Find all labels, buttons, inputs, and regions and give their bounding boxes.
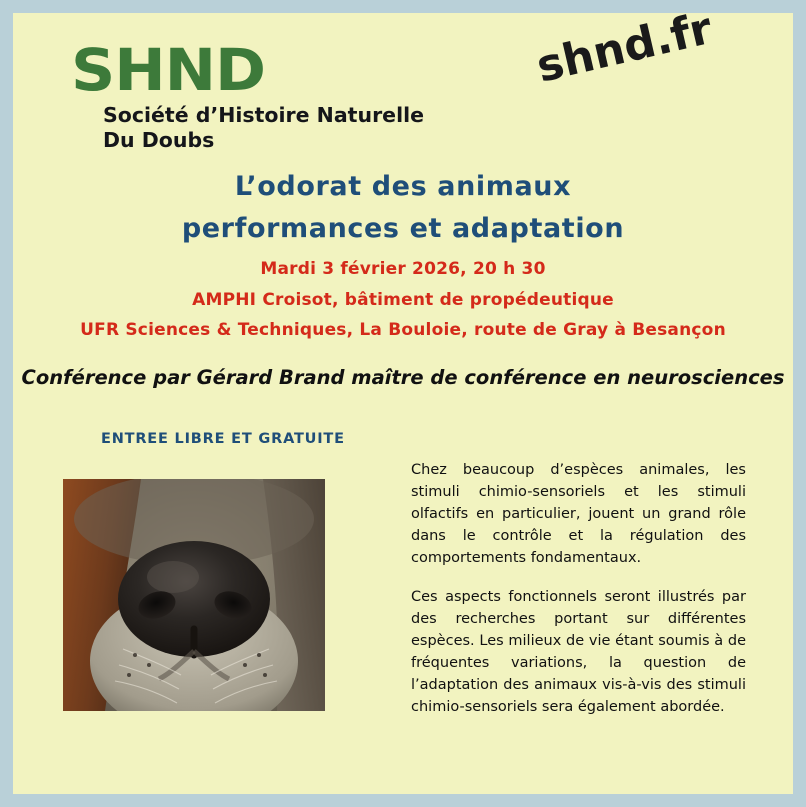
organization-logo: SHND Société d’Histoire Naturelle Du Dou… — [63, 41, 483, 153]
dog-nose-illustration — [63, 479, 325, 711]
event-address: UFR Sciences & Techniques, La Bouloie, r… — [13, 320, 793, 340]
event-date: Mardi 3 février 2026, 20 h 30 — [13, 259, 793, 279]
free-entry-notice: ENTREE LIBRE ET GRATUITE — [101, 431, 345, 447]
logo-subtitle-line1: Société d’Histoire Naturelle — [103, 103, 483, 128]
page-title-line1: L’odorat des animaux — [13, 171, 793, 202]
description-paragraph-2: Ces aspects fonctionnels seront illustré… — [411, 586, 746, 718]
event-room: AMPHI Croisot, bâtiment de propédeutique — [13, 290, 793, 310]
description-text: Chez beaucoup d’espèces animales, les st… — [411, 459, 746, 718]
speaker-line: Conférence par Gérard Brand maître de co… — [13, 366, 793, 389]
logo-acronym: SHND — [71, 41, 508, 99]
dog-nose-photo — [63, 479, 325, 711]
website-label: shnd.fr — [532, 3, 717, 93]
description-paragraph-1: Chez beaucoup d’espèces animales, les st… — [411, 459, 746, 569]
logo-subtitle: Société d’Histoire Naturelle Du Doubs — [103, 103, 483, 153]
poster-canvas: SHND Société d’Histoire Naturelle Du Dou… — [13, 13, 793, 794]
logo-subtitle-line2: Du Doubs — [103, 128, 483, 153]
page-title-line2: performances et adaptation — [13, 213, 793, 244]
